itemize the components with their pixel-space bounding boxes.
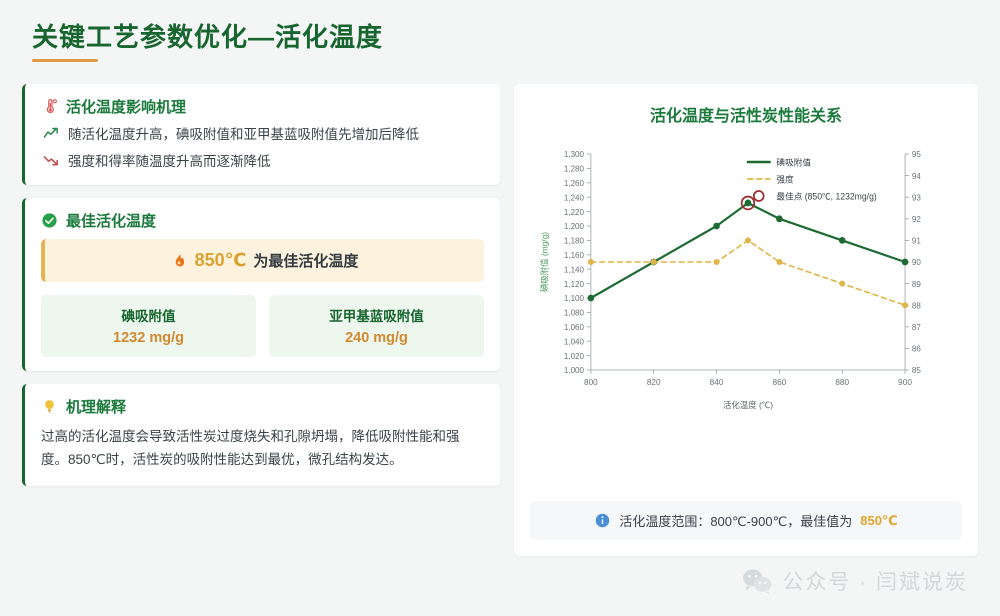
svg-text:1,120: 1,120 [564,280,585,289]
temperature-range-note: 活化温度范围：800℃-900℃，最佳值为 850℃ [530,501,962,540]
svg-text:碘吸附值 (mg/g): 碘吸附值 (mg/g) [540,232,550,292]
svg-text:93: 93 [912,193,921,202]
svg-text:1,060: 1,060 [564,323,585,332]
svg-text:强度: 强度 [776,173,794,184]
watermark-text: 公众号 · 闫斌说炭 [782,566,968,596]
svg-text:1,040: 1,040 [564,337,585,346]
right-column: 活化温度与活性炭性能关系 1,0001,0201,0401,0601,0801,… [514,84,978,556]
info-icon [594,512,611,529]
line-chart: 1,0001,0201,0401,0601,0801,1001,1201,140… [530,136,962,416]
left-column: 活化温度影响机理 随活化温度升高，碘吸附值和亚甲基蓝吸附值先增加后降低 强度和得… [22,84,500,556]
svg-text:820: 820 [647,377,661,387]
note-highlight: 850℃ [860,513,897,529]
content-columns: 活化温度影响机理 随活化温度升高，碘吸附值和亚甲基蓝吸附值先增加后降低 强度和得… [22,84,978,556]
svg-text:89: 89 [912,280,921,289]
metric-label: 碘吸附值 [45,305,252,325]
check-circle-icon [41,212,58,229]
svg-text:880: 880 [835,377,849,387]
svg-text:91: 91 [912,237,921,246]
svg-text:碘吸附值: 碘吸附值 [776,156,811,167]
metric-methylene-blue: 亚甲基蓝吸附值 240 mg/g [269,295,484,357]
card-optimal-title: 最佳活化温度 [66,210,156,231]
bullet-text: 随活化温度升高，碘吸附值和亚甲基蓝吸附值先增加后降低 [68,125,419,145]
card-optimal-temperature: 最佳活化温度 850℃ 为最佳活化温度 碘吸附值 1232 mg/g [22,198,500,371]
bullet-text: 强度和得率随温度升高而逐渐降低 [68,152,271,172]
chart-title: 活化温度与活性炭性能关系 [530,102,962,126]
svg-text:88: 88 [912,301,921,310]
svg-text:1,100: 1,100 [564,294,585,303]
svg-text:94: 94 [912,172,921,181]
thermometer-icon [41,98,58,115]
slide-root: 关键工艺参数优化—活化温度 活化温度影响机理 [0,0,1000,616]
svg-text:92: 92 [912,215,921,224]
card-explanation-header: 机理解释 [41,396,484,417]
card-explanation-title: 机理解释 [66,396,126,417]
chart-panel: 活化温度与活性炭性能关系 1,0001,0201,0401,0601,0801,… [514,84,978,556]
svg-text:1,080: 1,080 [564,309,585,318]
page-title: 关键工艺参数优化—活化温度 [32,22,383,53]
svg-text:1,000: 1,000 [564,366,585,375]
card-mechanism: 活化温度影响机理 随活化温度升高，碘吸附值和亚甲基蓝吸附值先增加后降低 强度和得… [22,84,500,185]
wechat-icon [742,568,772,594]
svg-text:860: 860 [773,377,787,387]
trend-up-icon [43,125,60,142]
svg-text:95: 95 [912,150,921,159]
svg-text:87: 87 [912,323,921,332]
optimal-temperature-banner: 850℃ 为最佳活化温度 [41,239,484,282]
metric-boxes: 碘吸附值 1232 mg/g 亚甲基蓝吸附值 240 mg/g [41,295,484,357]
svg-text:1,200: 1,200 [564,222,585,231]
svg-text:800: 800 [584,377,598,387]
page-title-block: 关键工艺参数优化—活化温度 [32,22,383,62]
svg-text:90: 90 [912,258,921,267]
svg-text:900: 900 [898,377,912,387]
metric-label: 亚甲基蓝吸附值 [273,305,480,325]
svg-text:85: 85 [912,366,921,375]
metric-value: 240 mg/g [273,330,480,346]
metric-value: 1232 mg/g [45,330,252,346]
svg-text:1,260: 1,260 [564,179,585,188]
svg-text:840: 840 [710,377,724,387]
metric-iodine: 碘吸附值 1232 mg/g [41,295,256,357]
svg-text:1,220: 1,220 [564,208,585,217]
watermark: 公众号 · 闫斌说炭 [742,566,968,596]
svg-text:1,300: 1,300 [564,150,585,159]
trend-down-icon [43,152,60,169]
banner-text: 为最佳活化温度 [253,250,358,271]
title-underline [32,59,98,62]
svg-text:86: 86 [912,345,921,354]
svg-text:1,020: 1,020 [564,352,585,361]
svg-text:1,140: 1,140 [564,265,585,274]
card-explanation: 机理解释 过高的活化温度会导致活性炭过度烧失和孔隙坍塌，降低吸附性能和强度。85… [22,384,500,485]
lightbulb-icon [41,398,58,415]
svg-text:1,180: 1,180 [564,237,585,246]
explanation-text: 过高的活化温度会导致活性炭过度烧失和孔隙坍塌，降低吸附性能和强度。850℃时，活… [41,425,484,471]
bullet-item: 随活化温度升高，碘吸附值和亚甲基蓝吸附值先增加后降低 [43,125,484,145]
card-mechanism-header: 活化温度影响机理 [41,96,484,117]
bullet-item: 强度和得率随温度升高而逐渐降低 [43,152,484,172]
svg-text:最佳点 (850℃, 1232mg/g): 最佳点 (850℃, 1232mg/g) [776,190,876,201]
note-text: 活化温度范围：800℃-900℃，最佳值为 [619,511,852,530]
svg-text:1,240: 1,240 [564,193,585,202]
svg-text:1,160: 1,160 [564,251,585,260]
fire-icon [171,252,188,269]
svg-text:1,280: 1,280 [564,165,585,174]
banner-temperature: 850℃ [195,250,247,271]
card-optimal-header: 最佳活化温度 [41,210,484,231]
card-mechanism-title: 活化温度影响机理 [66,96,186,117]
chart-svg: 1,0001,0201,0401,0601,0801,1001,1201,140… [530,136,962,416]
svg-text:活化温度 (℃): 活化温度 (℃) [723,400,773,410]
